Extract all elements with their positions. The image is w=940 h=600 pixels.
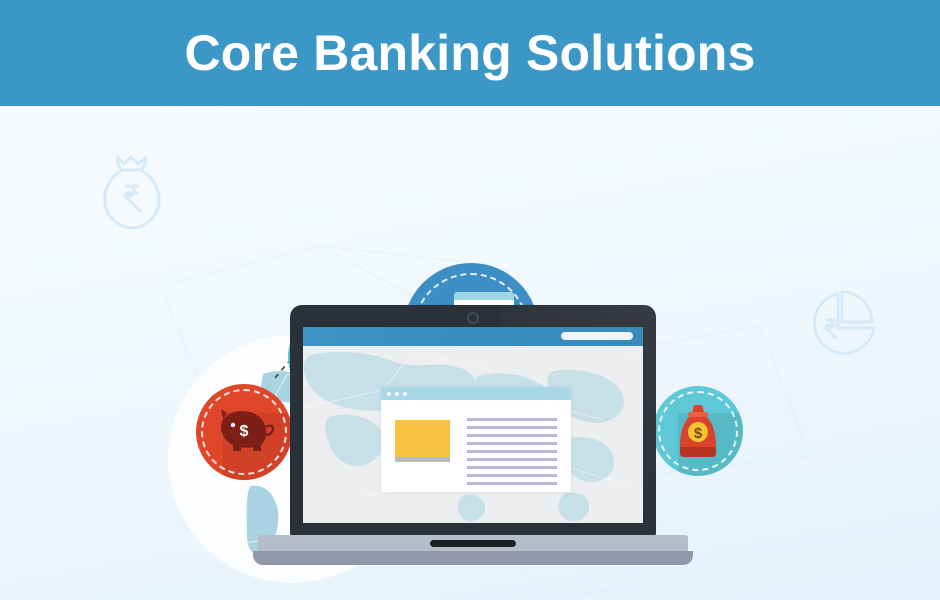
chart-axis — [395, 457, 450, 462]
laptop-base-top — [258, 535, 688, 551]
text-line — [467, 466, 557, 469]
screen-header-bar — [303, 327, 643, 346]
text-line-block — [467, 418, 557, 490]
bar-1 — [397, 426, 406, 456]
window-dot-3[interactable] — [403, 392, 407, 396]
dashboard-window[interactable] — [381, 387, 571, 492]
webcam-icon — [467, 312, 479, 324]
laptop-illustration — [253, 305, 693, 565]
text-line — [467, 482, 557, 485]
text-line — [467, 458, 557, 461]
infographic-canvas: Core Banking Solutions — [0, 0, 940, 600]
text-line — [467, 442, 557, 445]
laptop-screen — [303, 327, 643, 523]
bar-3 — [429, 438, 438, 456]
bar-chart — [395, 420, 450, 462]
laptop-lid — [290, 305, 656, 537]
svg-text:$: $ — [694, 425, 703, 442]
text-line — [467, 434, 557, 437]
page-header-banner: Core Banking Solutions — [0, 0, 940, 106]
laptop-base-front — [253, 551, 693, 565]
text-line — [467, 474, 557, 477]
window-dot-1[interactable] — [387, 392, 391, 396]
text-line — [467, 450, 557, 453]
text-line — [467, 418, 557, 421]
laptop-base — [253, 535, 693, 565]
svg-text:$: $ — [240, 423, 249, 440]
window-dot-2[interactable] — [395, 392, 399, 396]
text-line — [467, 426, 557, 429]
money-bag-rupee-watermark — [98, 154, 168, 232]
window-body — [381, 400, 571, 492]
page-title: Core Banking Solutions — [184, 28, 755, 78]
bar-2 — [413, 438, 422, 456]
illustration-scene: $ — [0, 106, 940, 600]
pie-chart-rupee-watermark — [808, 286, 880, 358]
trackpad-notch — [430, 540, 516, 547]
window-titlebar — [381, 387, 571, 400]
window-control-dots[interactable] — [387, 392, 407, 396]
